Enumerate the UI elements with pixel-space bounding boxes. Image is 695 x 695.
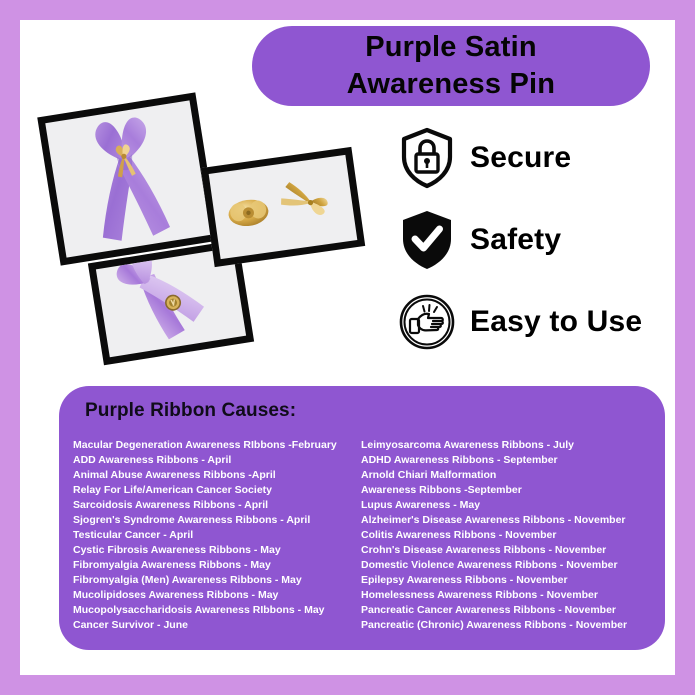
cause-item: Pancreatic Cancer Awareness Ribbons - No… bbox=[361, 603, 661, 618]
cause-item: Fibromyalgia (Men) Awareness Ribbons - M… bbox=[73, 573, 361, 588]
feature-easy-to-use: Easy to Use bbox=[398, 291, 642, 353]
cause-item: Crohn's Disease Awareness Ribbons - Nove… bbox=[361, 543, 661, 558]
feature-safety: Safety bbox=[398, 209, 561, 271]
cause-item: Sarcoidosis Awareness Ribbons - April bbox=[73, 498, 361, 513]
causes-column-right: Leimyosarcoma Awareness Ribbons - JulyAD… bbox=[361, 438, 661, 633]
cause-item: Animal Abuse Awareness Ribbons -April bbox=[73, 468, 361, 483]
cause-item: Relay For Life/American Cancer Society bbox=[73, 483, 361, 498]
cause-item: Pancreatic (Chronic) Awareness Ribbons -… bbox=[361, 618, 661, 633]
cause-item: Testicular Cancer - April bbox=[73, 528, 361, 543]
cause-item: Cancer Survivor - June bbox=[73, 618, 361, 633]
photo-purple-ribbon-with-pin bbox=[37, 92, 218, 265]
product-infographic: Purple Satin Awareness Pin bbox=[0, 0, 695, 695]
causes-heading: Purple Ribbon Causes: bbox=[85, 400, 296, 422]
title-line-2: Awareness Pin bbox=[347, 66, 555, 103]
photo-gold-pin-parts bbox=[201, 147, 365, 267]
title-line-1: Purple Satin bbox=[365, 29, 537, 66]
cause-item: Epilepsy Awareness Ribbons - November bbox=[361, 573, 661, 588]
cause-item: ADD Awareness Ribbons - April bbox=[73, 453, 361, 468]
cause-item: Mucopolysaccharidosis Awareness RIbbons … bbox=[73, 603, 361, 618]
cause-item: Awareness Ribbons -September bbox=[361, 483, 661, 498]
cause-item: Arnold Chiari Malformation bbox=[361, 468, 661, 483]
purple-ribbon-graphic bbox=[59, 106, 198, 251]
cause-item: Fibromyalgia Awareness Ribbons - May bbox=[73, 558, 361, 573]
cause-item: Lupus Awareness - May bbox=[361, 498, 661, 513]
gold-ribbon-pin-icon bbox=[109, 141, 140, 179]
cause-item: Sjogren's Syndrome Awareness Ribbons - A… bbox=[73, 513, 361, 528]
cause-item: ADHD Awareness Ribbons - September bbox=[361, 453, 661, 468]
cause-item: Homelessness Awareness Ribbons - Novembe… bbox=[361, 588, 661, 603]
feature-secure: Secure bbox=[398, 127, 571, 189]
cause-item: Alzheimer's Disease Awareness Ribbons - … bbox=[361, 513, 661, 528]
cause-item: Macular Degeneration Awareness RIbbons -… bbox=[73, 438, 361, 453]
cause-item: Cystic Fibrosis Awareness Ribbons - May bbox=[73, 543, 361, 558]
thumbs-up-circle-icon bbox=[398, 291, 456, 353]
cause-item: Leimyosarcoma Awareness Ribbons - July bbox=[361, 438, 661, 453]
shield-check-icon bbox=[398, 209, 456, 271]
feature-safety-label: Safety bbox=[470, 223, 561, 257]
causes-column-left: Macular Degeneration Awareness RIbbons -… bbox=[67, 438, 361, 633]
feature-easy-label: Easy to Use bbox=[470, 305, 642, 339]
title-banner: Purple Satin Awareness Pin bbox=[252, 26, 650, 106]
purple-ribbon-causes-panel: Purple Ribbon Causes: Macular Degenerati… bbox=[59, 386, 665, 650]
feature-secure-label: Secure bbox=[470, 141, 571, 175]
cause-item: Colitis Awareness Ribbons - November bbox=[361, 528, 661, 543]
gold-pin-parts-graphic bbox=[209, 155, 358, 259]
cause-item: Domestic Violence Awareness Ribbons - No… bbox=[361, 558, 661, 573]
cause-item: Mucolipidoses Awareness Ribbons - May bbox=[73, 588, 361, 603]
shield-lock-icon bbox=[398, 127, 456, 189]
causes-columns: Macular Degeneration Awareness RIbbons -… bbox=[67, 438, 657, 633]
